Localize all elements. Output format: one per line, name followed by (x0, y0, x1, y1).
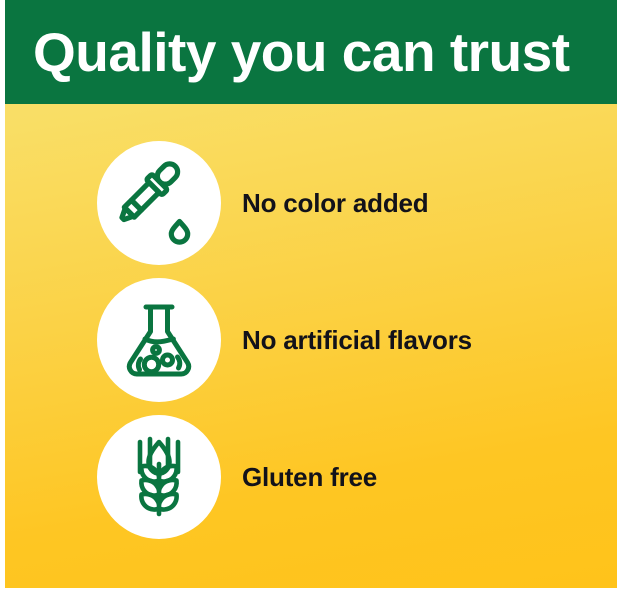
feature-label: Gluten free (242, 462, 377, 493)
flask-icon (117, 298, 201, 382)
wheat-icon (118, 434, 200, 520)
feature-row: No artificial flavors (5, 277, 617, 403)
card-artwork: Quality you can trust (5, 0, 617, 588)
feature-label: No artificial flavors (242, 325, 472, 356)
dropper-icon (116, 160, 202, 246)
icon-disc (97, 141, 221, 265)
quality-trust-card: Quality you can trust (0, 0, 617, 593)
icon-disc (97, 278, 221, 402)
header-band: Quality you can trust (5, 0, 617, 104)
feature-label: No color added (242, 188, 428, 219)
feature-row: No color added (5, 140, 617, 266)
page-title: Quality you can trust (33, 25, 570, 80)
icon-disc (97, 415, 221, 539)
feature-row: Gluten free (5, 414, 617, 540)
